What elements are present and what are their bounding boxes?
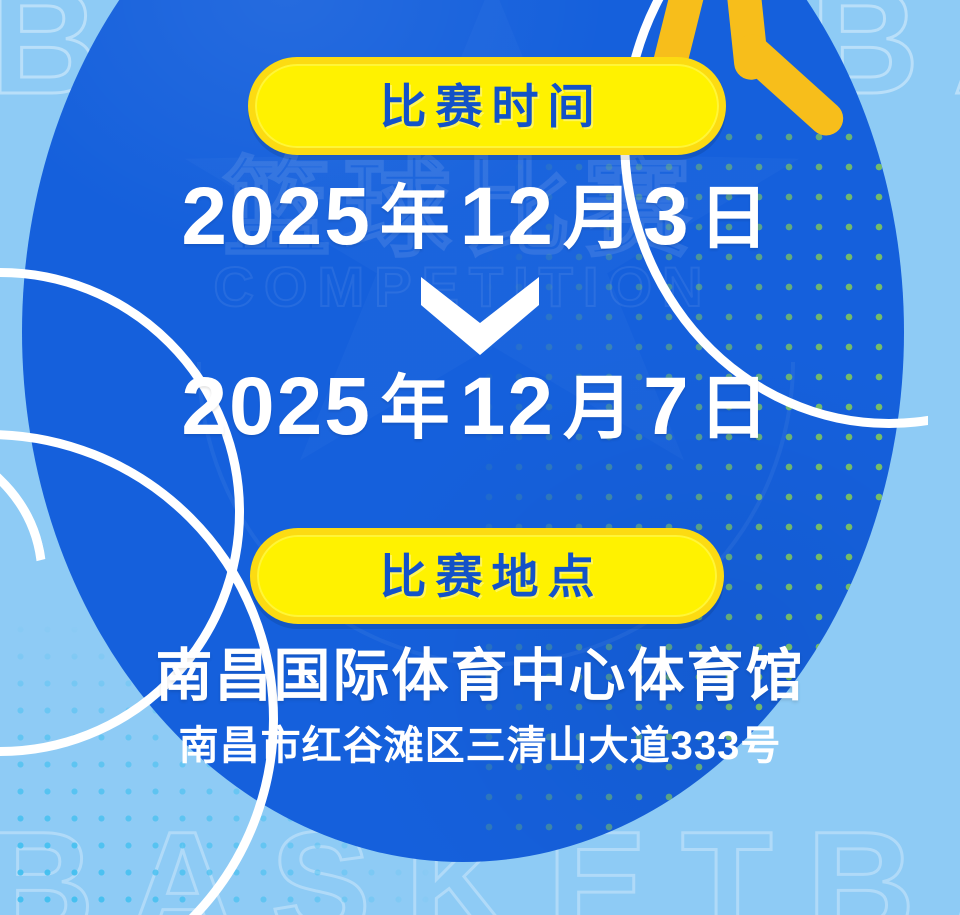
end-date-day: 7 — [643, 361, 691, 452]
match-venue-pill: 比赛地点 — [250, 528, 724, 624]
start-date-month-unit: 月 — [555, 179, 643, 257]
chevron-down-icon — [421, 277, 539, 355]
match-time-pill: 比赛时间 — [248, 57, 726, 155]
match-venue-pill-label: 比赛地点 — [371, 553, 604, 600]
poster-root: BASKETBALL BASKETBALL CHENG 篮球比赛 COMPETI… — [0, 0, 960, 915]
start-date-month: 12 — [460, 171, 555, 262]
start-date-day: 3 — [643, 171, 691, 262]
end-date-year-unit: 年 — [372, 369, 460, 447]
match-time-pill-label: 比赛时间 — [371, 83, 604, 130]
start-date-year: 2025 — [181, 171, 371, 262]
venue-address: 南昌市红谷滩区三清山大道333号 — [0, 726, 960, 766]
end-date-year: 2025 — [181, 361, 371, 452]
match-end-date: 2025年12月7日 — [0, 366, 960, 448]
end-date-month-unit: 月 — [555, 369, 643, 447]
match-start-date: 2025年12月3日 — [0, 176, 960, 258]
start-date-day-unit: 日 — [691, 179, 779, 257]
start-date-year-unit: 年 — [372, 179, 460, 257]
end-date-month: 12 — [460, 361, 555, 452]
end-date-day-unit: 日 — [691, 369, 779, 447]
venue-name: 南昌国际体育中心体育馆 — [0, 648, 960, 705]
